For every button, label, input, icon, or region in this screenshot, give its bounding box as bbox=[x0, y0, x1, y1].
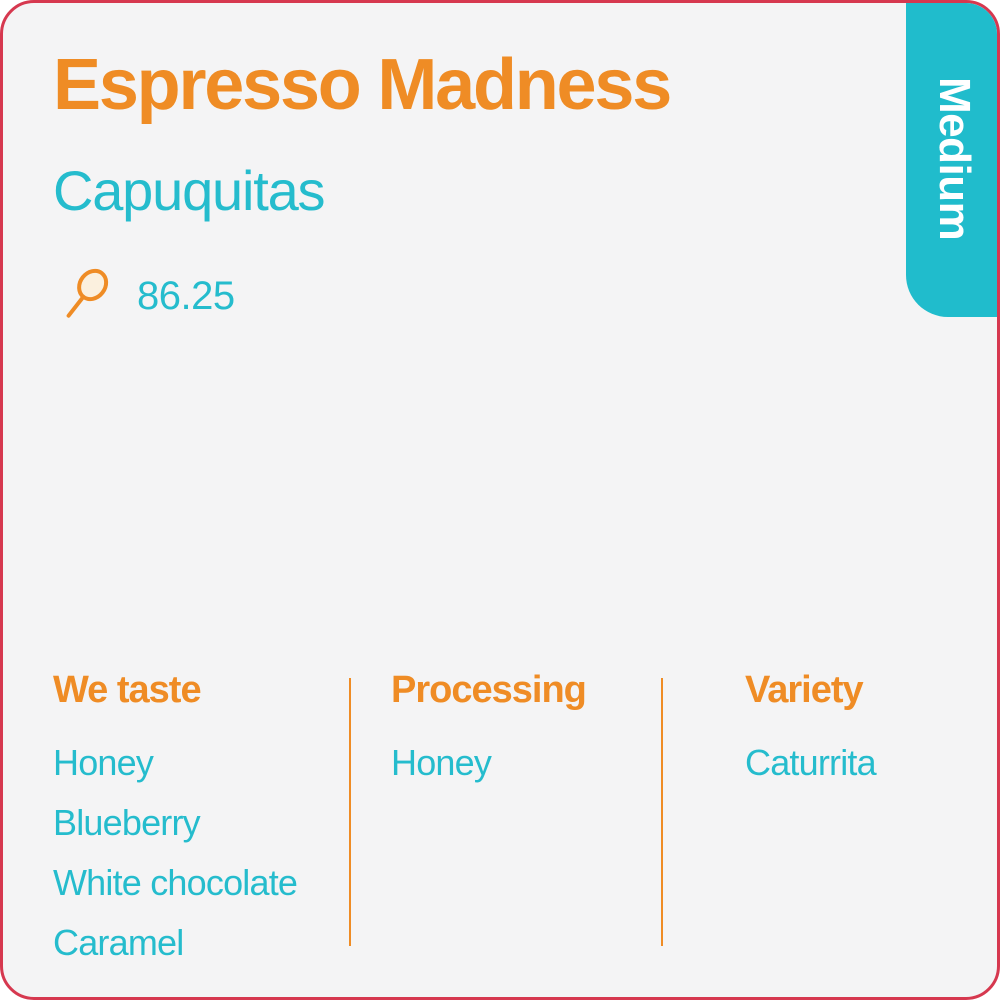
detail-list: Honey Blueberry White chocolate Caramel bbox=[53, 721, 349, 961]
detail-column-processing: Processing Honey bbox=[391, 671, 661, 781]
list-item: Caturrita bbox=[745, 721, 995, 781]
cupping-score: 86.25 bbox=[53, 265, 235, 327]
cupping-spoon-icon bbox=[53, 265, 115, 327]
list-item: Caramel bbox=[53, 901, 349, 961]
cupping-score-value: 86.25 bbox=[137, 276, 235, 316]
list-item: Honey bbox=[391, 721, 661, 781]
coffee-label-card: Medium Espresso Madness Capuquitas 86.25… bbox=[0, 0, 1000, 1000]
detail-list: Caturrita bbox=[745, 721, 995, 781]
card-header: Espresso Madness Capuquitas bbox=[53, 49, 853, 219]
detail-heading: Variety bbox=[745, 671, 995, 709]
detail-column-variety: Variety Caturrita bbox=[745, 671, 995, 781]
list-item: Blueberry bbox=[53, 781, 349, 841]
detail-heading: We taste bbox=[53, 671, 349, 709]
list-item: White chocolate bbox=[53, 841, 349, 901]
detail-list: Honey bbox=[391, 721, 661, 781]
column-divider bbox=[349, 678, 351, 946]
detail-columns: We taste Honey Blueberry White chocolate… bbox=[3, 671, 997, 971]
detail-heading: Processing bbox=[391, 671, 661, 709]
producer-name: Capuquitas bbox=[53, 121, 853, 219]
coffee-title: Espresso Madness bbox=[53, 49, 853, 121]
roast-level-label: Medium bbox=[932, 77, 976, 240]
column-divider bbox=[661, 678, 663, 946]
roast-level-tab[interactable]: Medium bbox=[906, 0, 1000, 317]
list-item: Honey bbox=[53, 721, 349, 781]
detail-column-we-taste: We taste Honey Blueberry White chocolate… bbox=[53, 671, 349, 961]
